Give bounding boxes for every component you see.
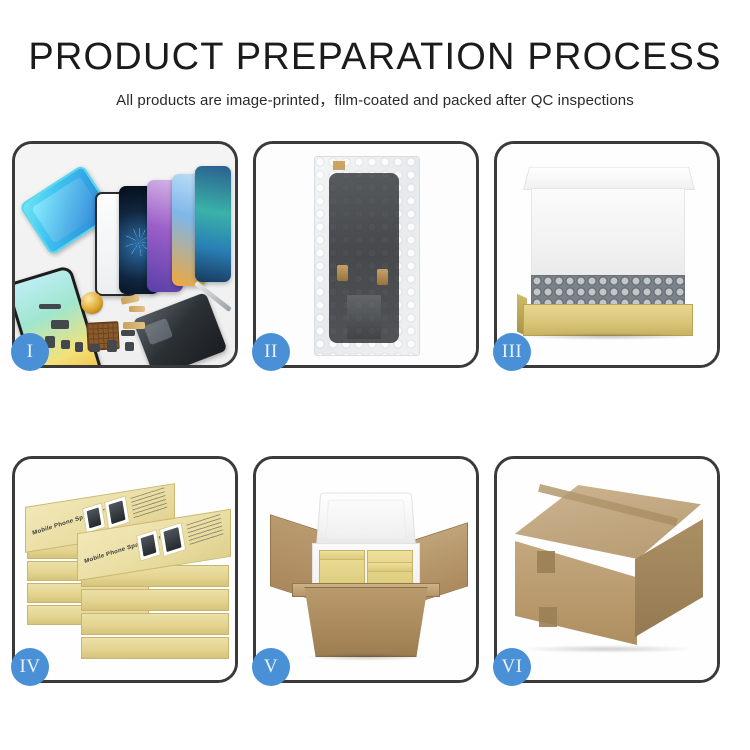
- styrofoam-lid: [316, 493, 416, 547]
- step-6-image: [497, 459, 717, 680]
- carton-shadow: [523, 645, 693, 653]
- bag-tape: [333, 161, 345, 170]
- carton-left-face: [515, 541, 637, 645]
- box-front-panel: [523, 304, 693, 336]
- step-2-image: [256, 144, 476, 365]
- box-lid-open: [523, 167, 695, 190]
- flex-cable-right: [377, 269, 388, 285]
- process-step-3[interactable]: III: [494, 141, 720, 368]
- carton-tape-upper: [537, 551, 555, 573]
- process-step-4[interactable]: Mobile Phone Spare Parts Mobile Phone Sp…: [12, 456, 238, 683]
- stacked-box-r2: [81, 589, 229, 611]
- process-step-5[interactable]: V: [253, 456, 479, 683]
- step-1-image: [15, 144, 235, 365]
- carton-shadow: [304, 653, 428, 661]
- inner-yellow-box-4: [367, 562, 413, 572]
- process-row-1: I II III: [12, 141, 739, 368]
- process-step-1[interactable]: I: [12, 141, 238, 368]
- step-badge-2: II: [252, 333, 290, 371]
- step-badge-5: V: [252, 648, 290, 686]
- part-flex-2: [129, 306, 145, 312]
- part-chip-2: [61, 340, 70, 349]
- flex-cable-left: [337, 265, 348, 281]
- step-badge-1: I: [11, 333, 49, 371]
- stacked-box-r3: [81, 613, 229, 635]
- step-5-image: [256, 459, 476, 680]
- step-4-image: Mobile Phone Spare Parts Mobile Phone Sp…: [15, 459, 235, 680]
- stacked-box-r4: [81, 637, 229, 659]
- box-shadow: [521, 333, 693, 340]
- part-strip-2: [51, 320, 69, 329]
- part-chip-4: [89, 344, 100, 352]
- page-header: PRODUCT PREPARATION PROCESS All products…: [0, 0, 750, 110]
- carton-tape-lower: [539, 607, 557, 627]
- phone-teardown-chassis: [132, 292, 227, 365]
- page-subtitle: All products are image-printed，film-coat…: [0, 89, 750, 110]
- part-chip-7: [121, 330, 135, 336]
- step-badge-6: VI: [493, 648, 531, 686]
- process-step-6[interactable]: VI: [494, 456, 720, 683]
- part-chip-6: [125, 342, 134, 351]
- part-chip-3: [75, 342, 83, 352]
- bubble-wrap-bag: [314, 156, 420, 356]
- process-grid: I II III: [12, 141, 739, 683]
- carton-front: [296, 587, 436, 657]
- part-flex-3: [123, 322, 145, 329]
- process-row-2: Mobile Phone Spare Parts Mobile Phone Sp…: [12, 456, 739, 683]
- foam-sheet: [531, 188, 685, 282]
- part-chip-5: [107, 340, 117, 352]
- wrapped-screen: [329, 173, 399, 343]
- process-step-2[interactable]: II: [253, 141, 479, 368]
- box-speclines-2: [186, 514, 223, 546]
- phone-display-teal: [195, 166, 231, 282]
- box-stack: Mobile Phone Spare Parts Mobile Phone Sp…: [21, 473, 233, 673]
- box-window-1b: [104, 495, 130, 529]
- speaker-component: [81, 292, 103, 314]
- step-badge-4: IV: [11, 648, 49, 686]
- box-window-2a: [136, 529, 161, 562]
- box-speclines-1: [130, 487, 167, 519]
- page-title: PRODUCT PREPARATION PROCESS: [0, 38, 750, 78]
- inner-yellow-box-3: [319, 550, 365, 560]
- step-badge-3: III: [493, 333, 531, 371]
- box-window-2b: [159, 522, 186, 557]
- part-strip-1: [39, 304, 61, 309]
- step-3-image: [497, 144, 717, 365]
